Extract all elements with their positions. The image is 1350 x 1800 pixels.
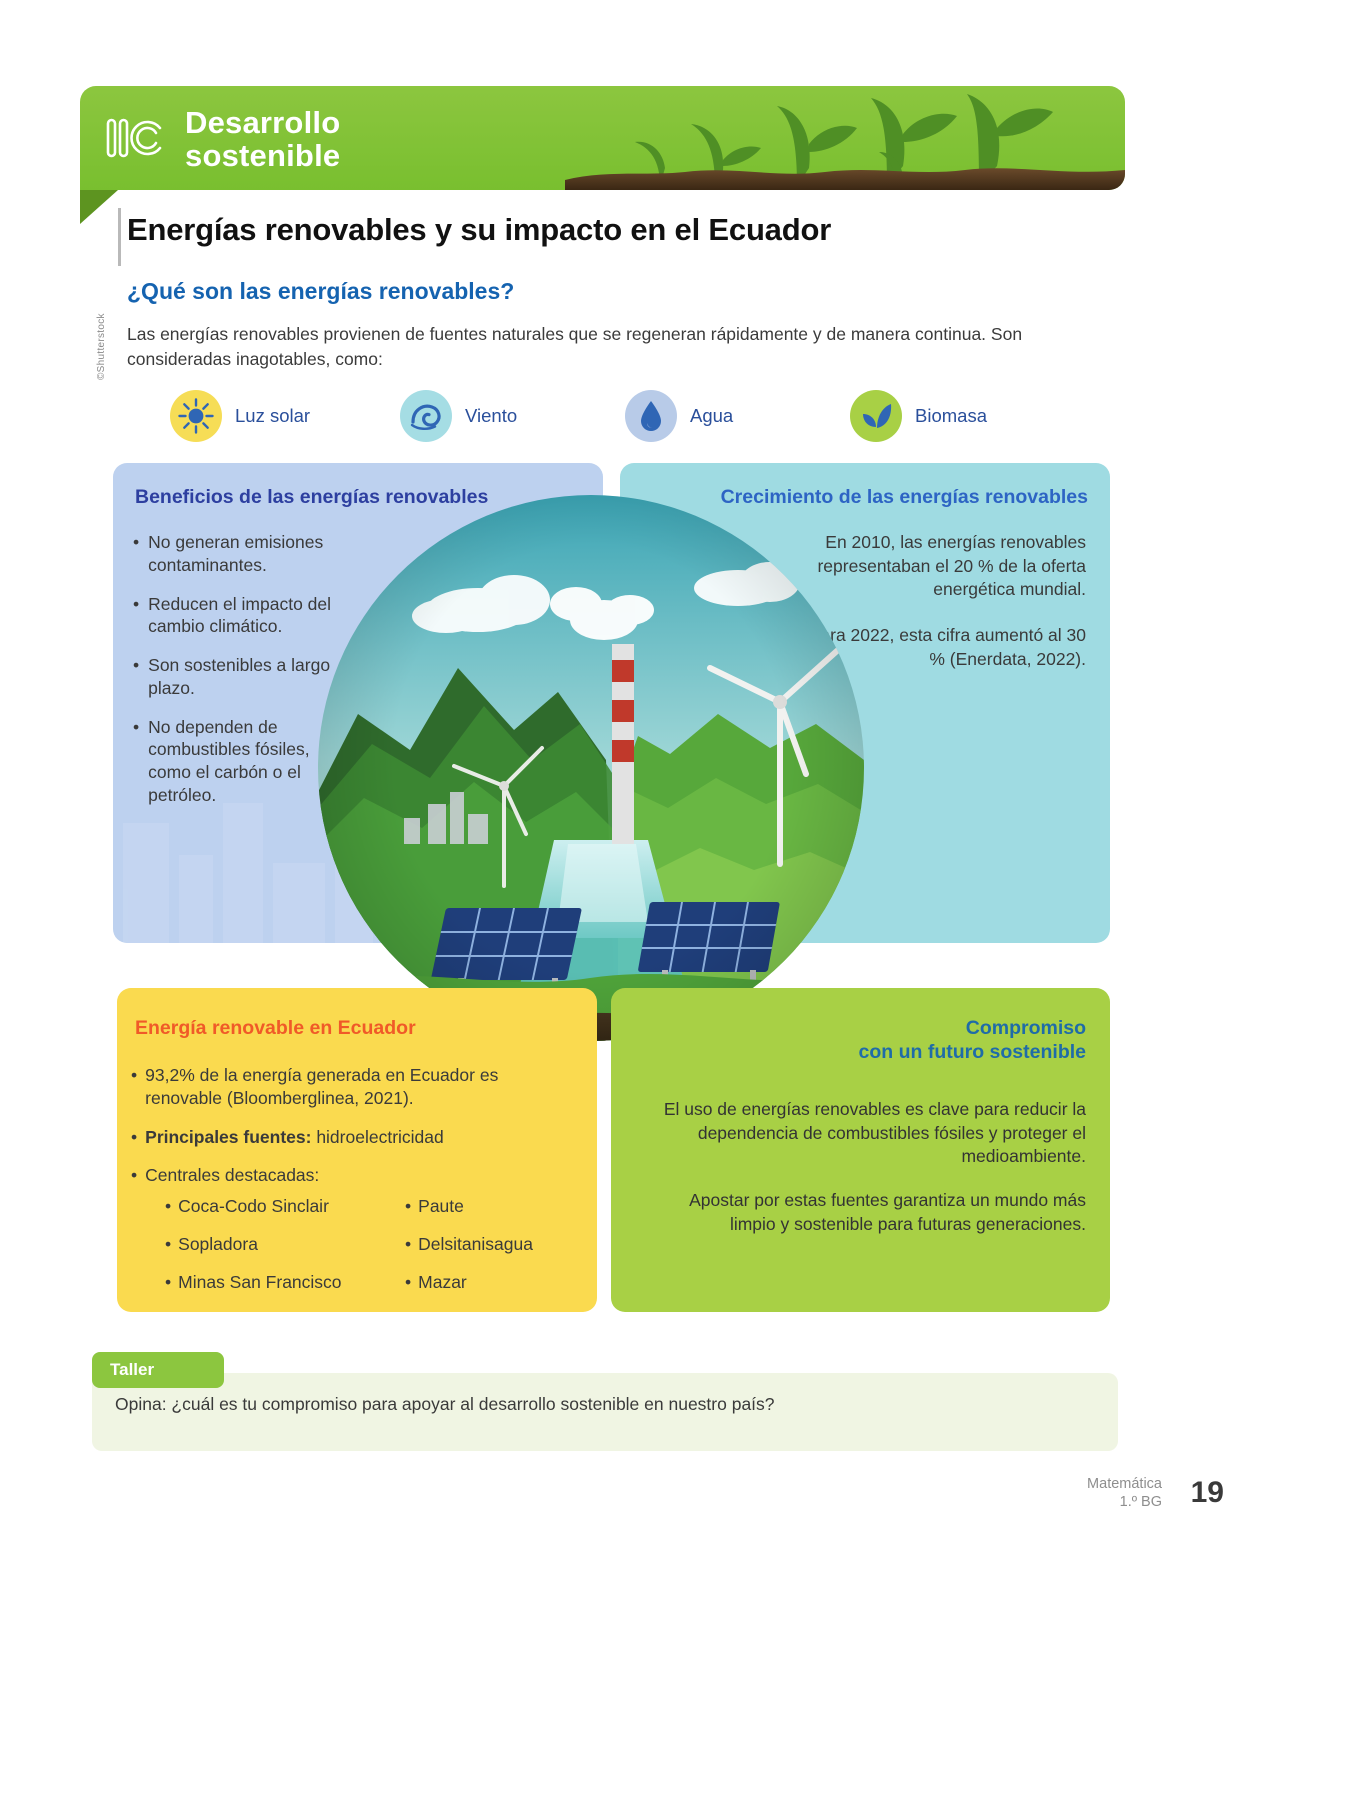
card-compromiso: Compromiso con un futuro sostenible El u… (611, 988, 1110, 1312)
source-viento: Viento (400, 390, 517, 442)
leaf-icon (850, 390, 902, 442)
banner-title: Desarrollo sostenible (185, 106, 340, 173)
card-title: Energía renovable en Ecuador (135, 1016, 416, 1040)
photo-credit: ©Shutterstock (96, 313, 107, 380)
benefits-list: • No generan emisiones contaminantes. • … (133, 531, 348, 823)
energy-sources-row: Luz solar Viento Agua (170, 390, 1100, 452)
source-luz-solar: Luz solar (170, 390, 310, 442)
bullet-dot: • (133, 654, 139, 700)
plant-name: Coca-Codo Sinclair (178, 1196, 329, 1217)
card-title: Compromiso con un futuro sostenible (859, 1016, 1087, 1065)
page-title: Energías renovables y su impacto en el E… (127, 212, 831, 248)
source-agua: Agua (625, 390, 733, 442)
list-item-value: hidroelectricidad (311, 1127, 443, 1147)
plant-name: Mazar (418, 1272, 467, 1293)
plant-name: Sopladora (178, 1234, 258, 1255)
page-number: 19 (1191, 1476, 1224, 1510)
bullet-dot: • (133, 531, 139, 577)
list-item: •Paute (405, 1196, 585, 1217)
seedlings-illustration (565, 90, 1125, 190)
card-energia-ecuador: Energía renovable en Ecuador • 93,2% de … (117, 988, 597, 1312)
bullet-dot: • (133, 593, 139, 639)
ic-logo-icon (104, 114, 168, 162)
title-rule (118, 208, 121, 266)
paragraph: Apostar por estas fuentes garantiza un m… (646, 1189, 1086, 1236)
list-item: • Principales fuentes: hidroelectricidad (131, 1126, 551, 1149)
bullet-dot: • (405, 1234, 411, 1255)
plant-name: Paute (418, 1196, 464, 1217)
section-banner: Desarrollo sostenible (80, 86, 1125, 190)
bullet-dot: • (165, 1272, 171, 1293)
bullet-dot: • (131, 1126, 137, 1149)
list-item: •Sopladora (165, 1234, 405, 1255)
paragraph: El uso de energías renovables es clave p… (646, 1098, 1086, 1169)
water-drop-icon (625, 390, 677, 442)
list-item: • No dependen de combustibles fósiles, c… (133, 716, 348, 807)
banner-fold-decoration (80, 190, 118, 224)
bullet-dot: • (131, 1164, 137, 1187)
taller-tab: Taller (92, 1352, 224, 1388)
worksheet-page: Desarrollo sostenible Energías renovable… (0, 0, 1350, 1800)
source-label: Luz solar (235, 405, 310, 427)
source-biomasa: Biomasa (850, 390, 987, 442)
list-item-emphasis: Principales fuentes: (145, 1127, 311, 1147)
list-item: •Coca-Codo Sinclair (165, 1196, 405, 1217)
taller-tab-label: Taller (110, 1360, 154, 1380)
bullet-dot: • (165, 1196, 171, 1217)
plant-name: Delsitanisagua (418, 1234, 533, 1255)
commitment-text: El uso de energías renovables es clave p… (646, 1098, 1086, 1236)
plant-name: Minas San Francisco (178, 1272, 341, 1293)
taller-question: Opina: ¿cuál es tu compromiso para apoya… (115, 1394, 775, 1415)
sun-icon (170, 390, 222, 442)
bullet-dot: • (405, 1272, 411, 1293)
list-item: •Mazar (405, 1272, 585, 1293)
wind-icon (400, 390, 452, 442)
list-item-text: 93,2% de la energía generada en Ecuador … (145, 1064, 551, 1110)
intro-paragraph: Las energías renovables provienen de fue… (127, 322, 1102, 372)
list-item: • 93,2% de la energía generada en Ecuado… (131, 1064, 551, 1110)
bullet-dot: • (165, 1234, 171, 1255)
ecuador-list: • 93,2% de la energía generada en Ecuado… (131, 1064, 551, 1203)
list-item: •Delsitanisagua (405, 1234, 585, 1255)
source-label: Biomasa (915, 405, 987, 427)
section-subheading: ¿Qué son las energías renovables? (127, 278, 514, 305)
source-label: Viento (465, 405, 517, 427)
list-item-text: Principales fuentes: hidroelectricidad (145, 1126, 444, 1149)
footer-subject: Matemática 1.º BG (1087, 1475, 1162, 1511)
list-item: • Reducen el impacto del cambio climátic… (133, 593, 348, 639)
list-item: •Minas San Francisco (165, 1272, 405, 1293)
list-item-text: Centrales destacadas: (145, 1164, 319, 1187)
bullet-dot: • (405, 1196, 411, 1217)
power-plants-list: •Coca-Codo Sinclair •Paute •Sopladora •D… (165, 1196, 585, 1293)
bullet-dot: • (131, 1064, 137, 1110)
source-label: Agua (690, 405, 733, 427)
list-item: • No generan emisiones contaminantes. (133, 531, 348, 577)
list-item: • Centrales destacadas: (131, 1164, 551, 1187)
bullet-dot: • (133, 716, 139, 807)
list-item: • Son sostenibles a largo plazo. (133, 654, 348, 700)
